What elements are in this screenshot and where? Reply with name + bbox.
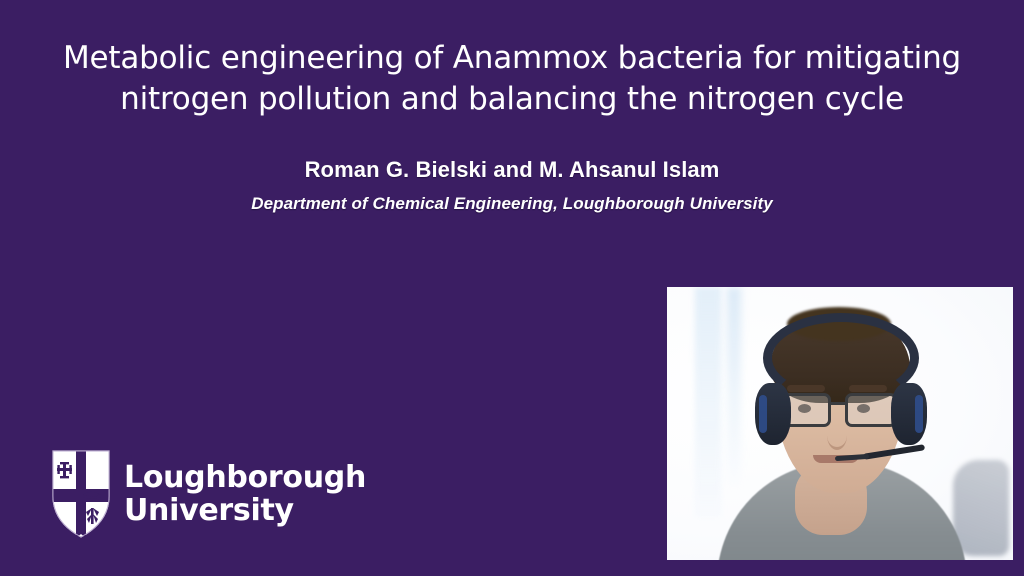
shield-crest-icon xyxy=(52,450,110,538)
title-line-1: Metabolic engineering of Anammox bacteri… xyxy=(30,38,994,79)
university-wordmark: Loughborough University xyxy=(124,461,366,527)
background-object xyxy=(953,460,1009,556)
wordmark-line-2: University xyxy=(124,494,366,527)
window-light-secondary xyxy=(727,287,741,487)
wordmark-line-1: Loughborough xyxy=(124,461,366,494)
presentation-slide: Metabolic engineering of Anammox bacteri… xyxy=(0,0,1024,576)
university-logo: Loughborough University xyxy=(52,450,366,538)
author-names: Roman G. Bielski and M. Ahsanul Islam xyxy=(0,157,1024,183)
page-title: Metabolic engineering of Anammox bacteri… xyxy=(0,38,1024,120)
speaker-video-feed xyxy=(667,287,1013,560)
author-affiliation: Department of Chemical Engineering, Loug… xyxy=(0,194,1024,214)
title-line-2: nitrogen pollution and balancing the nit… xyxy=(30,79,994,120)
speaker-nose xyxy=(827,421,847,450)
headphone-accent-left xyxy=(759,395,767,433)
speaker-video-panel[interactable] xyxy=(667,287,1013,560)
authors-block: Roman G. Bielski and M. Ahsanul Islam De… xyxy=(0,157,1024,214)
window-light xyxy=(695,287,721,517)
headphone-accent-right xyxy=(915,395,923,433)
